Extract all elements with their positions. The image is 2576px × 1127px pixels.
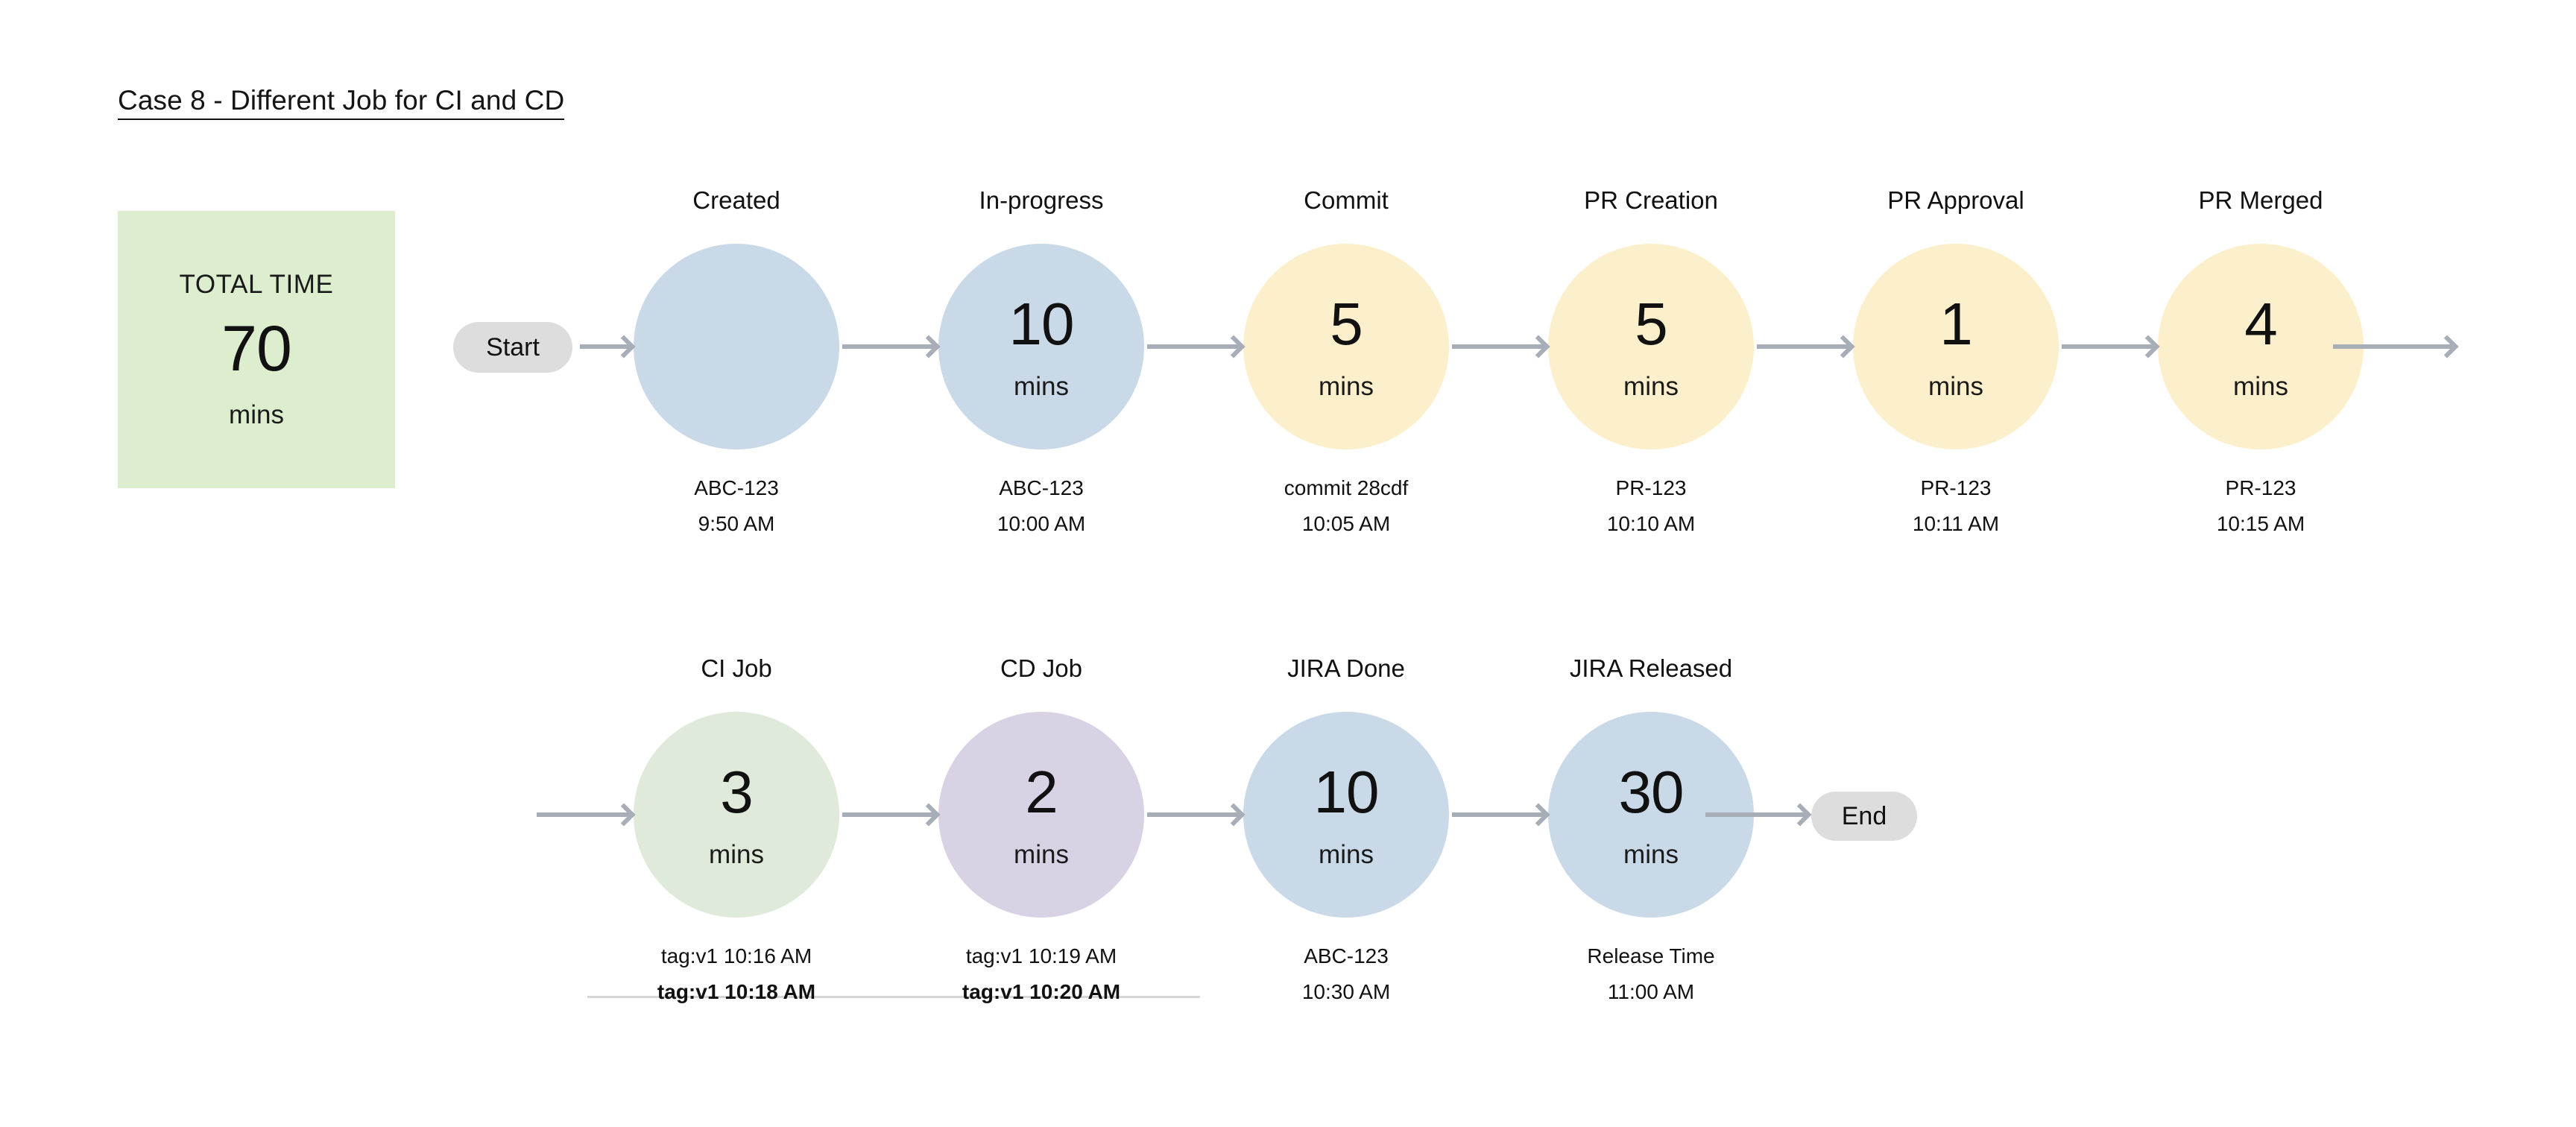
- arrow-in-progress-to-commit: [1147, 344, 1240, 349]
- arrow-ci-job-to-cd-job: [842, 812, 935, 817]
- node-duration-cd-job: 2: [1025, 763, 1058, 822]
- node-meta-line-jira-done-1: ABC-123: [1190, 946, 1503, 967]
- node-meta-pr-approval: PR-12310:11 AM: [1799, 478, 2112, 534]
- node-meta-line-in-progress-2: 10:00 AM: [885, 514, 1198, 534]
- node-meta-line-pr-merged-1: PR-123: [2104, 478, 2417, 499]
- node-jira-done[interactable]: JIRA Done10minsABC-12310:30 AM: [1190, 656, 1503, 1003]
- node-duration-pr-approval: 1: [1939, 294, 1972, 354]
- arrow-row1-continue: [2333, 344, 2454, 349]
- node-circle-pr-approval[interactable]: 1mins: [1853, 244, 2059, 449]
- total-time-label: TOTAL TIME: [180, 271, 334, 297]
- arrow-row2-enter: [537, 812, 631, 817]
- node-meta-line-cd-job-2: tag:v1 10:20 AM: [885, 982, 1198, 1003]
- node-title-ci-job: CI Job: [580, 656, 893, 681]
- node-meta-line-commit-1: commit 28cdf: [1190, 478, 1503, 499]
- end-node[interactable]: End: [1811, 792, 1917, 841]
- arrow-created-to-in-progress: [842, 344, 935, 349]
- node-meta-line-pr-creation-2: 10:10 AM: [1494, 514, 1808, 534]
- node-meta-line-ci-job-2: tag:v1 10:18 AM: [580, 982, 893, 1003]
- node-meta-created: ABC-1239:50 AM: [580, 478, 893, 534]
- node-duration-commit: 5: [1330, 294, 1363, 354]
- node-duration-unit-in-progress: mins: [1014, 373, 1069, 400]
- node-meta-pr-merged: PR-12310:15 AM: [2104, 478, 2417, 534]
- node-commit[interactable]: Commit5minscommit 28cdf10:05 AM: [1190, 188, 1503, 534]
- node-duration-pr-merged: 4: [2244, 294, 2277, 354]
- node-duration-unit-pr-merged: mins: [2233, 373, 2288, 400]
- node-in-progress[interactable]: In-progress10minsABC-12310:00 AM: [885, 188, 1198, 534]
- node-circle-commit[interactable]: 5mins: [1243, 244, 1449, 449]
- arrow-pr-approval-to-pr-merged: [2062, 344, 2155, 349]
- node-duration-unit-jira-done: mins: [1319, 842, 1374, 868]
- node-meta-jira-done: ABC-12310:30 AM: [1190, 946, 1503, 1003]
- node-duration-in-progress: 10: [1009, 294, 1074, 354]
- node-duration-ci-job: 3: [720, 763, 753, 822]
- node-meta-line-pr-creation-1: PR-123: [1494, 478, 1808, 499]
- node-meta-line-created-1: ABC-123: [580, 478, 893, 499]
- node-circle-created[interactable]: [634, 244, 839, 449]
- arrow-pr-creation-to-pr-approval: [1757, 344, 1850, 349]
- node-circle-in-progress[interactable]: 10mins: [938, 244, 1144, 449]
- node-meta-cd-job: tag:v1 10:19 AMtag:v1 10:20 AM: [885, 946, 1198, 1003]
- node-title-in-progress: In-progress: [885, 188, 1198, 212]
- arrow-cd-job-to-jira-done: [1147, 812, 1240, 817]
- node-meta-line-created-2: 9:50 AM: [580, 514, 893, 534]
- node-duration-unit-cd-job: mins: [1014, 842, 1069, 868]
- node-meta-in-progress: ABC-12310:00 AM: [885, 478, 1198, 534]
- total-time-value: 70: [221, 317, 291, 381]
- node-meta-line-commit-2: 10:05 AM: [1190, 514, 1503, 534]
- node-meta-commit: commit 28cdf10:05 AM: [1190, 478, 1503, 534]
- node-meta-line-pr-approval-1: PR-123: [1799, 478, 2112, 499]
- node-pr-creation[interactable]: PR Creation5minsPR-12310:10 AM: [1494, 188, 1808, 534]
- node-meta-line-in-progress-1: ABC-123: [885, 478, 1198, 499]
- node-ci-job[interactable]: CI Job3minstag:v1 10:16 AMtag:v1 10:18 A…: [580, 656, 893, 1003]
- node-circle-cd-job[interactable]: 2mins: [938, 712, 1144, 918]
- node-meta-ci-job: tag:v1 10:16 AMtag:v1 10:18 AM: [580, 946, 893, 1003]
- node-meta-line-ci-job-1: tag:v1 10:16 AM: [580, 946, 893, 967]
- node-title-commit: Commit: [1190, 188, 1503, 212]
- node-jira-released[interactable]: JIRA Released30minsRelease Time11:00 AM: [1494, 656, 1808, 1003]
- node-title-jira-done: JIRA Done: [1190, 656, 1503, 681]
- node-duration-jira-released: 30: [1619, 763, 1684, 822]
- node-duration-unit-pr-approval: mins: [1928, 373, 1983, 400]
- total-time-unit: mins: [229, 402, 284, 428]
- node-circle-ci-job[interactable]: 3mins: [634, 712, 839, 918]
- node-title-pr-merged: PR Merged: [2104, 188, 2417, 212]
- total-time-card: TOTAL TIME 70 mins: [118, 211, 395, 488]
- node-title-cd-job: CD Job: [885, 656, 1198, 681]
- node-duration-unit-commit: mins: [1319, 373, 1374, 400]
- node-cd-job[interactable]: CD Job2minstag:v1 10:19 AMtag:v1 10:20 A…: [885, 656, 1198, 1003]
- node-meta-jira-released: Release Time11:00 AM: [1494, 946, 1808, 1003]
- node-circle-pr-creation[interactable]: 5mins: [1548, 244, 1754, 449]
- node-circle-jira-done[interactable]: 10mins: [1243, 712, 1449, 918]
- node-duration-unit-jira-released: mins: [1623, 842, 1679, 868]
- node-title-jira-released: JIRA Released: [1494, 656, 1808, 681]
- arrow-start-to-created: [580, 344, 631, 349]
- page-title: Case 8 - Different Job for CI and CD: [118, 86, 564, 120]
- node-title-pr-approval: PR Approval: [1799, 188, 2112, 212]
- start-node[interactable]: Start: [453, 322, 572, 373]
- node-duration-pr-creation: 5: [1635, 294, 1667, 354]
- node-duration-unit-ci-job: mins: [709, 842, 764, 868]
- node-meta-line-jira-released-2: 11:00 AM: [1494, 982, 1808, 1003]
- arrow-jira-released-to-end: [1705, 812, 1807, 817]
- node-meta-line-cd-job-1: tag:v1 10:19 AM: [885, 946, 1198, 967]
- node-meta-line-pr-merged-2: 10:15 AM: [2104, 514, 2417, 534]
- node-pr-merged[interactable]: PR Merged4minsPR-12310:15 AM: [2104, 188, 2417, 534]
- node-meta-line-pr-approval-2: 10:11 AM: [1799, 514, 2112, 534]
- node-meta-pr-creation: PR-12310:10 AM: [1494, 478, 1808, 534]
- node-duration-unit-pr-creation: mins: [1623, 373, 1679, 400]
- node-meta-line-jira-released-1: Release Time: [1494, 946, 1808, 967]
- node-duration-jira-done: 10: [1314, 763, 1379, 822]
- node-pr-approval[interactable]: PR Approval1minsPR-12310:11 AM: [1799, 188, 2112, 534]
- node-title-pr-creation: PR Creation: [1494, 188, 1808, 212]
- node-created[interactable]: CreatedABC-1239:50 AM: [580, 188, 893, 534]
- arrow-commit-to-pr-creation: [1452, 344, 1545, 349]
- node-title-created: Created: [580, 188, 893, 212]
- arrow-jira-done-to-jira-released: [1452, 812, 1545, 817]
- node-meta-line-jira-done-2: 10:30 AM: [1190, 982, 1503, 1003]
